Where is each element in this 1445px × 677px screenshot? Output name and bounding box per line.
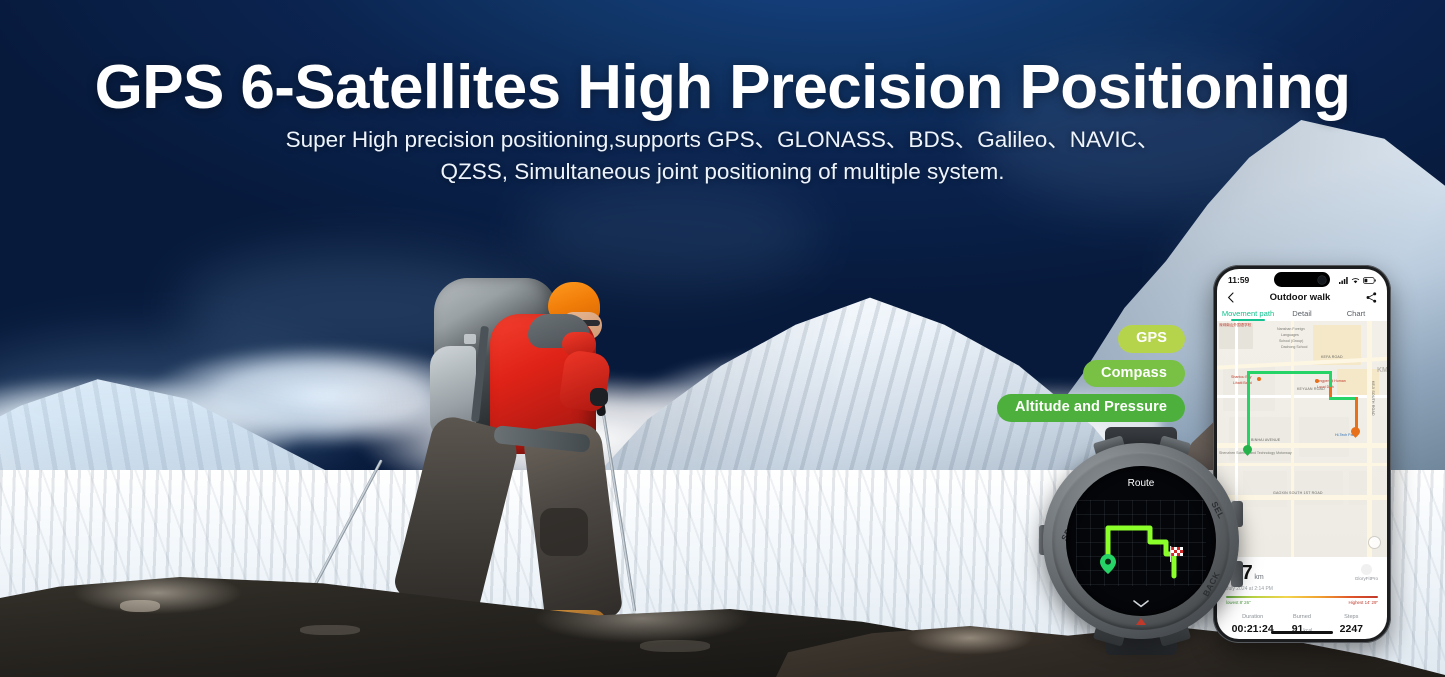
status-bar: 11:59 bbox=[1217, 269, 1387, 289]
phone-tab-bar: Movement path Detail Chart bbox=[1217, 307, 1387, 321]
chevron-left-icon[interactable] bbox=[1227, 292, 1234, 303]
triangle-marker-icon bbox=[1136, 618, 1146, 625]
map-road-label: KEFA ROAD bbox=[1321, 355, 1343, 359]
badge-gps[interactable]: GPS bbox=[1118, 325, 1185, 353]
map-road bbox=[1217, 463, 1387, 466]
hero-banner: GPS 6-Satellites High Precision Position… bbox=[0, 0, 1445, 677]
sky-wisp bbox=[520, 180, 820, 290]
dynamic-island bbox=[1274, 272, 1330, 287]
badge-compass[interactable]: Compass bbox=[1083, 360, 1185, 388]
map-poi-marker bbox=[1257, 377, 1261, 381]
map-road bbox=[1291, 321, 1294, 557]
app-brand: GloryFitPro bbox=[1355, 564, 1378, 581]
brand-name: GloryFitPro bbox=[1355, 576, 1378, 581]
share-icon[interactable] bbox=[1366, 292, 1377, 303]
feature-badge-list: GPS Compass Altitude and Pressure bbox=[845, 325, 1185, 422]
rock-speck bbox=[640, 640, 710, 652]
route-line-green bbox=[1247, 371, 1331, 374]
tab-detail[interactable]: Detail bbox=[1275, 309, 1329, 321]
tab-chart[interactable]: Chart bbox=[1329, 309, 1383, 321]
map-label: School (Group) bbox=[1279, 339, 1303, 343]
map-label: 深圳南山外国语学校 bbox=[1219, 323, 1251, 328]
page-title: GPS 6-Satellites High Precision Position… bbox=[0, 55, 1445, 120]
home-indicator[interactable] bbox=[1271, 631, 1333, 634]
wifi-icon bbox=[1351, 277, 1360, 284]
badge-altitude-and-pressure[interactable]: Altitude and Pressure bbox=[997, 394, 1185, 422]
map-road-label: BINHAI AVENUE bbox=[1251, 438, 1280, 442]
subtitle-line-2: QZSS, Simultaneous joint positioning of … bbox=[273, 156, 1173, 188]
tab-movement-path[interactable]: Movement path bbox=[1221, 309, 1275, 321]
smartwatch-mockup: SPORT SEL BACK ❤ Route bbox=[1043, 443, 1239, 639]
watch-route-path bbox=[1066, 466, 1216, 616]
map-road bbox=[1217, 395, 1387, 398]
rock-speck bbox=[300, 625, 360, 635]
location-pin-icon bbox=[1100, 554, 1116, 574]
brand-icon bbox=[1361, 564, 1372, 575]
front-camera-icon bbox=[1318, 276, 1326, 284]
elevation-range: lowest 8' 26" Highest 14' 29" bbox=[1226, 600, 1378, 605]
watch-screen[interactable]: Route bbox=[1066, 466, 1216, 616]
chevron-down-icon[interactable] bbox=[1133, 600, 1149, 608]
battery-icon bbox=[1363, 277, 1376, 284]
distance-unit: km bbox=[1254, 574, 1263, 581]
rock-speck bbox=[120, 600, 160, 612]
status-icon-group bbox=[1339, 277, 1376, 284]
map-label: Dachong School bbox=[1281, 345, 1307, 349]
map-road-label: GAOXIN SOUTH 1ST ROAD bbox=[1273, 491, 1323, 495]
route-line-green bbox=[1247, 371, 1250, 435]
stat-label: Burned bbox=[1277, 614, 1326, 620]
stat-value: 2247 bbox=[1327, 623, 1376, 635]
stat-label: Steps bbox=[1327, 614, 1376, 620]
map-area-block bbox=[1295, 471, 1343, 505]
route-line-green bbox=[1329, 397, 1357, 400]
subtitle-line-1: Super High precision positioning,support… bbox=[273, 124, 1173, 156]
map-road bbox=[1367, 321, 1372, 557]
map-label: Languages bbox=[1281, 333, 1299, 337]
activity-date: July 2024 at 2:14 PM bbox=[1226, 586, 1378, 592]
glove bbox=[590, 388, 608, 406]
elevation-highest: Highest 14' 29" bbox=[1349, 600, 1379, 605]
map-road bbox=[1217, 356, 1387, 369]
backpack-logo bbox=[464, 334, 476, 344]
map-area-block bbox=[1299, 417, 1349, 457]
knee-panel bbox=[540, 508, 588, 556]
elevation-gradient-bar bbox=[1226, 596, 1378, 598]
checkered-flag-icon bbox=[1170, 546, 1186, 562]
map-locate-button[interactable] bbox=[1368, 536, 1381, 549]
map-road bbox=[1217, 495, 1387, 500]
map-poi-marker bbox=[1315, 379, 1319, 383]
map-label: Nanshan Foreign bbox=[1277, 327, 1305, 331]
signal-bars-icon bbox=[1339, 277, 1348, 284]
stat-steps: Steps 2247 bbox=[1327, 614, 1376, 635]
map-road-label: KEJI SOUTH ROAD bbox=[1371, 381, 1375, 416]
status-time: 11:59 bbox=[1228, 275, 1249, 285]
page-subtitle: Super High precision positioning,support… bbox=[273, 124, 1173, 188]
map-label: KM bbox=[1377, 367, 1387, 374]
phone-nav-bar: Outdoor walk bbox=[1217, 289, 1387, 307]
map-area-block bbox=[1243, 471, 1287, 507]
phone-screen-title: Outdoor walk bbox=[1270, 292, 1331, 303]
